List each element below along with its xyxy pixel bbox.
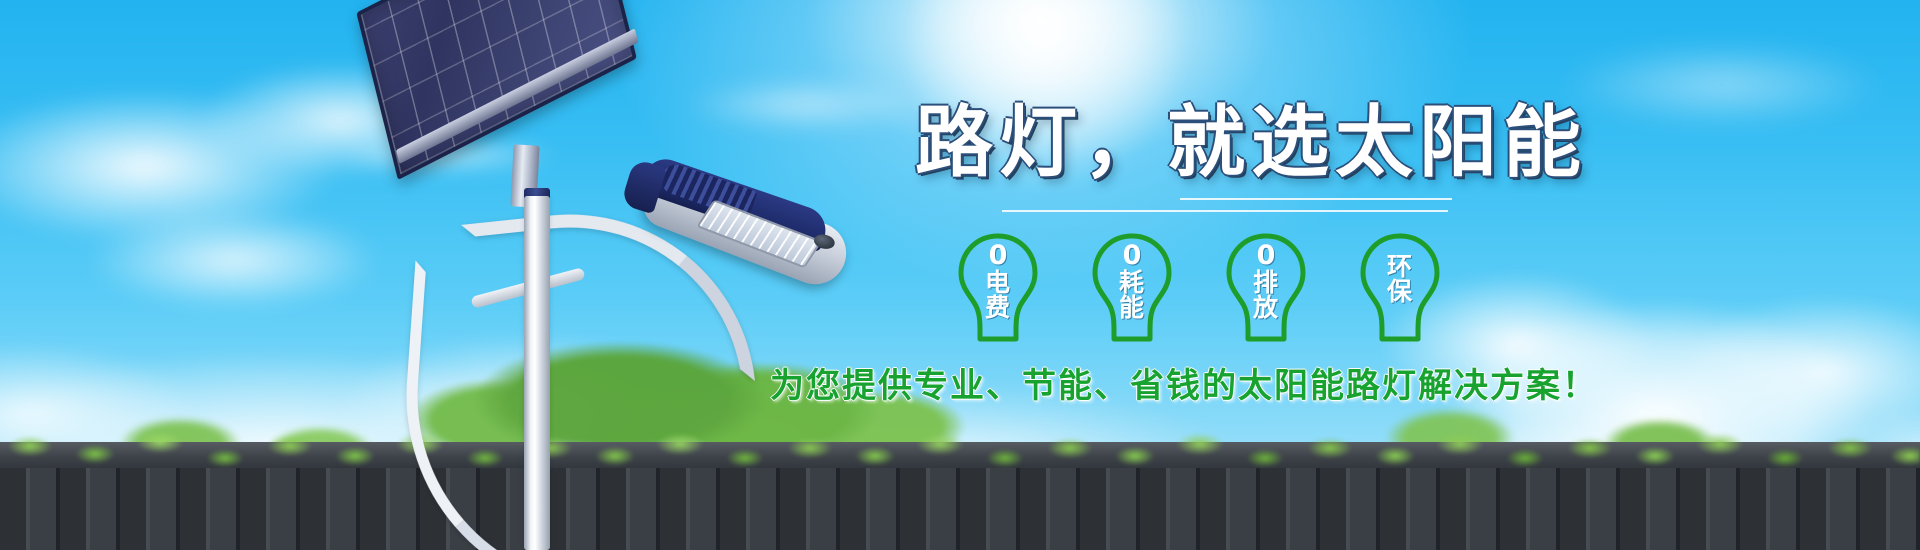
- solar-street-light-banner: 路灯，就选太阳能 0 电 费 0 耗: [0, 0, 1920, 550]
- badge-text-group: 0 耗 能: [1089, 242, 1175, 321]
- badge-word-line2: 能: [1089, 295, 1175, 321]
- badge-text-group: 0 排 放: [1223, 242, 1309, 321]
- badge-word-line2: 保: [1357, 279, 1443, 305]
- divider-upper: [1180, 198, 1452, 200]
- light-pole: [524, 196, 550, 550]
- feature-badge-list: 0 电 费 0 耗 能 0: [955, 232, 1443, 344]
- feature-badge-0paifang[interactable]: 0 排 放: [1223, 232, 1309, 344]
- badge-word-line2: 费: [955, 295, 1041, 321]
- page-title: 路灯，就选太阳能: [915, 104, 1587, 182]
- feature-badge-0dianfei[interactable]: 0 电 费: [955, 232, 1041, 344]
- badge-text-group: 0 电 费: [955, 242, 1041, 321]
- divider-lower: [1002, 210, 1448, 212]
- badge-number: 0: [1223, 242, 1309, 270]
- badge-word-line2: 放: [1223, 295, 1309, 321]
- badge-number: 0: [955, 242, 1041, 270]
- feature-badge-0haoneng[interactable]: 0 耗 能: [1089, 232, 1175, 344]
- badge-text-group: 环 保: [1357, 254, 1443, 305]
- badge-number: 0: [1089, 242, 1175, 270]
- feature-badge-huanbao[interactable]: 环 保: [1357, 232, 1443, 344]
- banner-subtitle: 为您提供专业、节能、省钱的太阳能路灯解决方案！: [770, 358, 1598, 407]
